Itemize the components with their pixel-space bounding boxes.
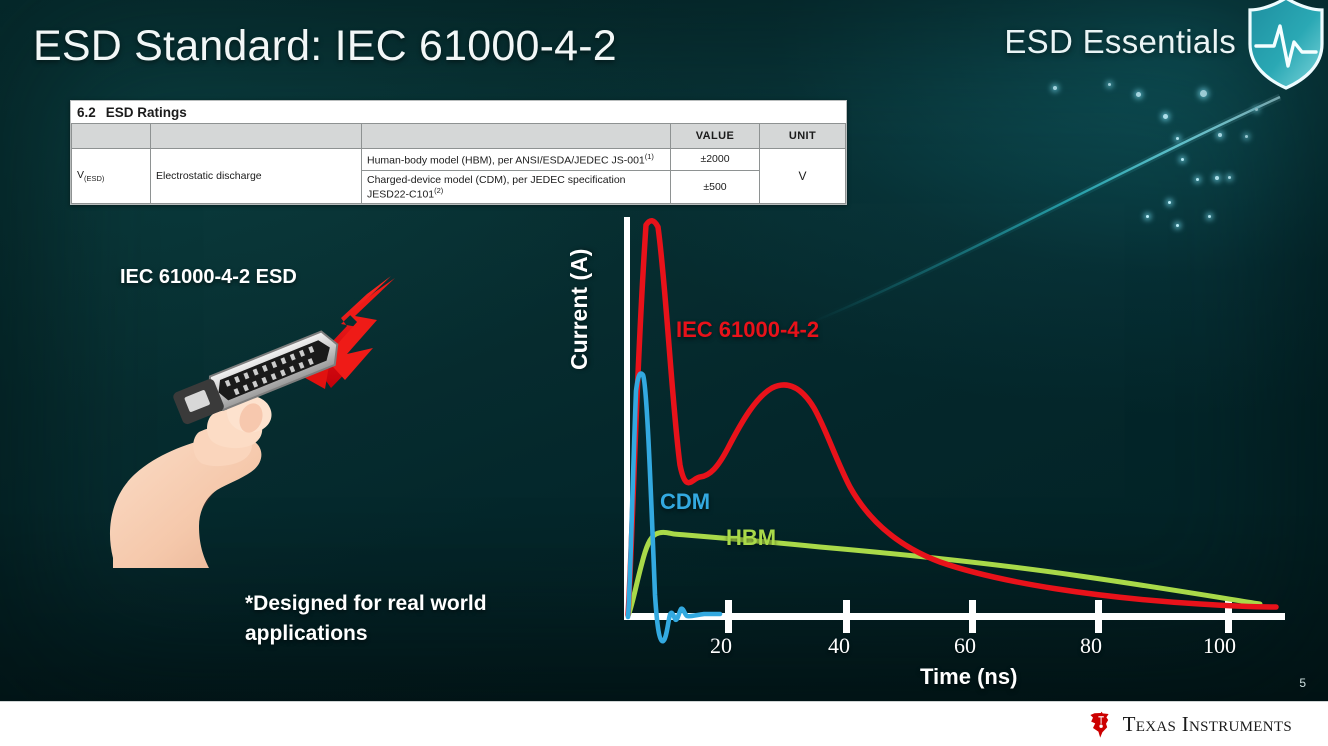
x-tick-label-80: 80: [1080, 633, 1102, 659]
footnote-marker: (1): [645, 152, 654, 161]
condition-text: Human-body model (HBM), per ANSI/ESDA/JE…: [367, 155, 645, 167]
x-tick-label-40: 40: [828, 633, 850, 659]
footnote-marker: (2): [434, 186, 443, 195]
header-blank-1: [72, 124, 151, 149]
background-dot: [1176, 137, 1179, 140]
shield-pulse-icon: [1246, 0, 1326, 92]
background-dot: [1228, 176, 1231, 179]
texas-instruments-logo: Texas Instruments: [1087, 711, 1292, 738]
ti-texas-mark-icon: [1087, 711, 1114, 738]
background-dot: [1053, 86, 1057, 90]
background-dot: [1163, 114, 1168, 119]
hand-hdmi-lightning-illustration: [95, 258, 435, 568]
page-number: 5: [1299, 676, 1306, 690]
condition-cell: Human-body model (HBM), per ANSI/ESDA/JE…: [362, 149, 671, 171]
table-row: V(ESD) Electrostatic discharge Human-bod…: [72, 149, 846, 171]
section-number: 6.2: [77, 105, 96, 120]
parameter-cell: Electrostatic discharge: [151, 149, 362, 204]
header-unit: UNIT: [760, 124, 846, 149]
brand-tag: ESD Essentials: [1004, 23, 1236, 61]
background-dot: [1245, 135, 1248, 138]
ti-wordmark: Texas Instruments: [1123, 712, 1292, 737]
background-dot: [1255, 108, 1258, 111]
background-dot: [1181, 158, 1184, 161]
x-tick-label-60: 60: [954, 633, 976, 659]
series-label-hbm: HBM: [726, 525, 776, 551]
esd-ratings-table-card: 6.2ESD Ratings VALUE UNIT V(ESD) Electro…: [70, 100, 847, 205]
background-dot: [1218, 133, 1222, 137]
slide-title: ESD Standard: IEC 61000-4-2: [33, 22, 617, 71]
table-header-row: VALUE UNIT: [72, 124, 846, 149]
x-tick-label-100: 100: [1203, 633, 1236, 659]
background-dot: [1200, 90, 1207, 97]
esd-waveform-chart: [560, 195, 1320, 695]
table-section-heading: 6.2ESD Ratings: [71, 101, 846, 123]
chart-x-axis: [624, 613, 1285, 620]
header-blank-3: [362, 124, 671, 149]
slide-root: ESD Standard: IEC 61000-4-2 ESD Essentia…: [0, 0, 1328, 746]
background-dot: [1196, 178, 1199, 181]
background-dot: [1136, 92, 1141, 97]
value-cell: ±2000: [671, 149, 760, 171]
background-dot: [1108, 83, 1111, 86]
header-blank-2: [151, 124, 362, 149]
x-tick-label-20: 20: [710, 633, 732, 659]
symbol-text: V: [77, 169, 84, 181]
series-label-iec: IEC 61000-4-2: [676, 317, 819, 343]
footnote-note: *Designed for real world applications: [245, 589, 545, 650]
series-iec-line: [628, 221, 1276, 615]
series-label-cdm: CDM: [660, 489, 710, 515]
symbol-cell: V(ESD): [72, 149, 151, 204]
background-dot: [1215, 176, 1219, 180]
header-value: VALUE: [671, 124, 760, 149]
section-title: ESD Ratings: [106, 105, 187, 120]
esd-ratings-table: VALUE UNIT V(ESD) Electrostatic discharg…: [71, 123, 846, 204]
symbol-subscript: (ESD): [84, 174, 104, 183]
